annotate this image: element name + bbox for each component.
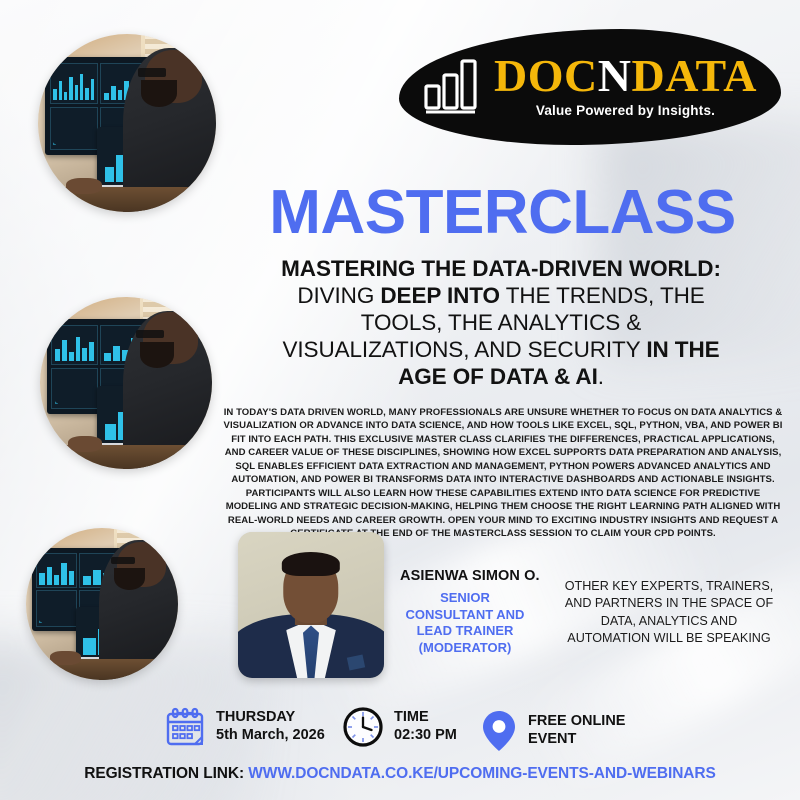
speaker-name: ASIENWA SIMON O. [400, 568, 540, 584]
page-title: MASTERCLASS [230, 182, 775, 244]
description-paragraph: IN TODAY'S DATA DRIVEN WORLD, MANY PROFE… [222, 406, 784, 541]
clock-icon [342, 706, 384, 748]
event-date-text: THURSDAY 5th March, 2026 [216, 709, 325, 744]
event-date-value: 5th March, 2026 [216, 727, 325, 745]
logo-word-n: N [598, 53, 632, 99]
photo-analyst-1 [38, 34, 216, 212]
bar-chart-icon [423, 55, 481, 115]
masterclass-flyer: DOCNDATA Value Powered by Insights. MAST… [0, 0, 800, 800]
map-pin-icon [480, 708, 518, 754]
other-speakers-note: OTHER KEY EXPERTS, TRAINERS, AND PARTNER… [560, 578, 778, 648]
subtitle: MASTERING THE DATA-DRIVEN WORLD: DIVING … [218, 255, 784, 390]
registration-url[interactable]: WWW.DOCNDATA.CO.KE/UPCOMING-EVENTS-AND-W… [248, 765, 715, 782]
event-details: THURSDAY 5th March, 2026 TIME 02:30 PM [150, 700, 670, 760]
event-time-value: 02:30 PM [394, 727, 457, 745]
calendar-icon [164, 706, 206, 748]
event-day: THURSDAY [216, 709, 325, 727]
event-date: THURSDAY 5th March, 2026 [164, 706, 325, 748]
event-time-label: TIME [394, 709, 457, 727]
event-time-text: TIME 02:30 PM [394, 709, 457, 744]
photo-analyst-2 [40, 297, 212, 469]
logo-word-data: DATA [631, 53, 757, 99]
subtitle-line-5: AGE OF DATA & AI. [218, 363, 784, 390]
speaker-role: SENIOR CONSULTANT AND LEAD TRAINER (MODE… [400, 590, 530, 657]
logo-tagline: Value Powered by Insights. [536, 104, 715, 118]
event-location-line1: FREE ONLINE [528, 713, 625, 731]
logo-word-doc: DOC [494, 53, 598, 99]
registration-line: REGISTRATION LINK: WWW.DOCNDATA.CO.KE/UP… [0, 765, 800, 783]
subtitle-line-2: DIVING DEEP INTO THE TRENDS, THE [218, 282, 784, 309]
photo-analyst-3 [26, 528, 178, 680]
subtitle-line-1: MASTERING THE DATA-DRIVEN WORLD: [218, 255, 784, 282]
event-time: TIME 02:30 PM [342, 706, 457, 748]
registration-label: REGISTRATION LINK: [84, 765, 244, 782]
event-location: FREE ONLINE EVENT [480, 708, 625, 754]
subtitle-line-4: VISUALIZATIONS, AND SECURITY IN THE [218, 336, 784, 363]
speaker-portrait [238, 532, 384, 678]
subtitle-line-3: TOOLS, THE ANALYTICS & [218, 309, 784, 336]
event-location-text: FREE ONLINE EVENT [528, 713, 625, 748]
event-location-line2: EVENT [528, 731, 625, 749]
logo-wordmark: DOCNDATA [494, 53, 757, 99]
brand-logo: DOCNDATA Value Powered by Insights. [399, 29, 781, 145]
